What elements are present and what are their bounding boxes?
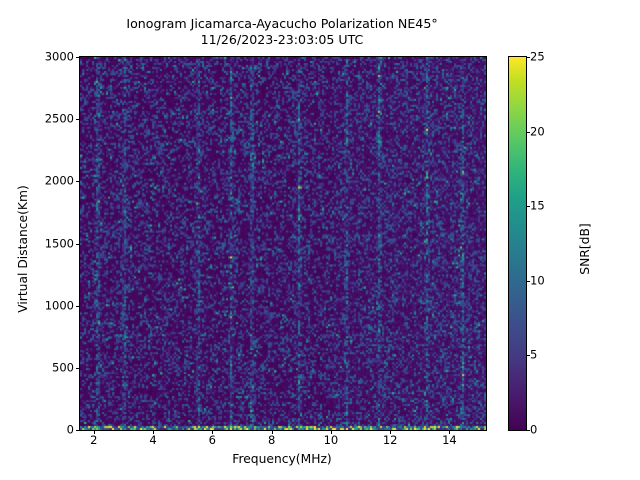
colorbar-tick-mark bbox=[526, 132, 530, 133]
y-axis-tickmarks bbox=[75, 56, 79, 431]
chart-title: Ionogram Jicamarca-Ayacucho Polarization… bbox=[79, 16, 485, 48]
y-tick-label: 0 bbox=[14, 424, 74, 436]
x-tick-mark bbox=[153, 430, 154, 434]
y-tick-mark bbox=[76, 306, 80, 307]
colorbar-tick-label: 15 bbox=[530, 200, 545, 212]
colorbar-tickmarks bbox=[526, 56, 530, 431]
x-tick-label: 2 bbox=[74, 434, 114, 446]
colorbar-gradient bbox=[508, 56, 527, 431]
x-tick-mark bbox=[272, 430, 273, 434]
x-tick-mark bbox=[390, 430, 391, 434]
y-tick-label: 3000 bbox=[14, 51, 74, 63]
colorbar-label: SNR[dB] bbox=[578, 149, 592, 349]
x-tick-mark bbox=[94, 430, 95, 434]
colorbar-tick-mark bbox=[526, 430, 530, 431]
colorbar-tick-label: 5 bbox=[530, 350, 537, 362]
colorbar-tick-mark bbox=[526, 57, 530, 58]
ionogram-heatmap-axes[interactable] bbox=[79, 56, 487, 431]
x-tick-label: 12 bbox=[370, 434, 410, 446]
x-axis-tickmarks bbox=[79, 430, 485, 434]
colorbar-tick-label: 10 bbox=[530, 275, 545, 287]
x-tick-label: 6 bbox=[192, 434, 232, 446]
ionogram-heatmap bbox=[80, 57, 486, 430]
colorbar-tick-label: 20 bbox=[530, 126, 545, 138]
x-axis-label: Frequency(MHz) bbox=[79, 452, 485, 466]
colorbar-ticklabels: 0510152025 bbox=[530, 56, 570, 431]
x-tick-mark bbox=[331, 430, 332, 434]
y-tick-mark bbox=[76, 181, 80, 182]
y-axis-label: Virtual Distance(Km) bbox=[16, 89, 30, 409]
figure-canvas: Ionogram Jicamarca-Ayacucho Polarization… bbox=[0, 0, 640, 480]
colorbar-tick-label: 25 bbox=[530, 51, 545, 63]
y-tick-mark bbox=[76, 57, 80, 58]
x-tick-label: 8 bbox=[252, 434, 292, 446]
colorbar-tick-mark bbox=[526, 206, 530, 207]
colorbar-tick-mark bbox=[526, 281, 530, 282]
x-tick-label: 14 bbox=[429, 434, 469, 446]
x-tick-mark bbox=[212, 430, 213, 434]
x-axis-ticklabels: 2468101214 bbox=[79, 434, 485, 450]
x-tick-label: 4 bbox=[133, 434, 173, 446]
y-tick-mark bbox=[76, 368, 80, 369]
colorbar-tick-label: 0 bbox=[530, 424, 537, 436]
colorbar-tick-mark bbox=[526, 355, 530, 356]
y-tick-mark bbox=[76, 119, 80, 120]
x-tick-mark bbox=[449, 430, 450, 434]
y-tick-mark bbox=[76, 244, 80, 245]
x-tick-label: 10 bbox=[311, 434, 351, 446]
